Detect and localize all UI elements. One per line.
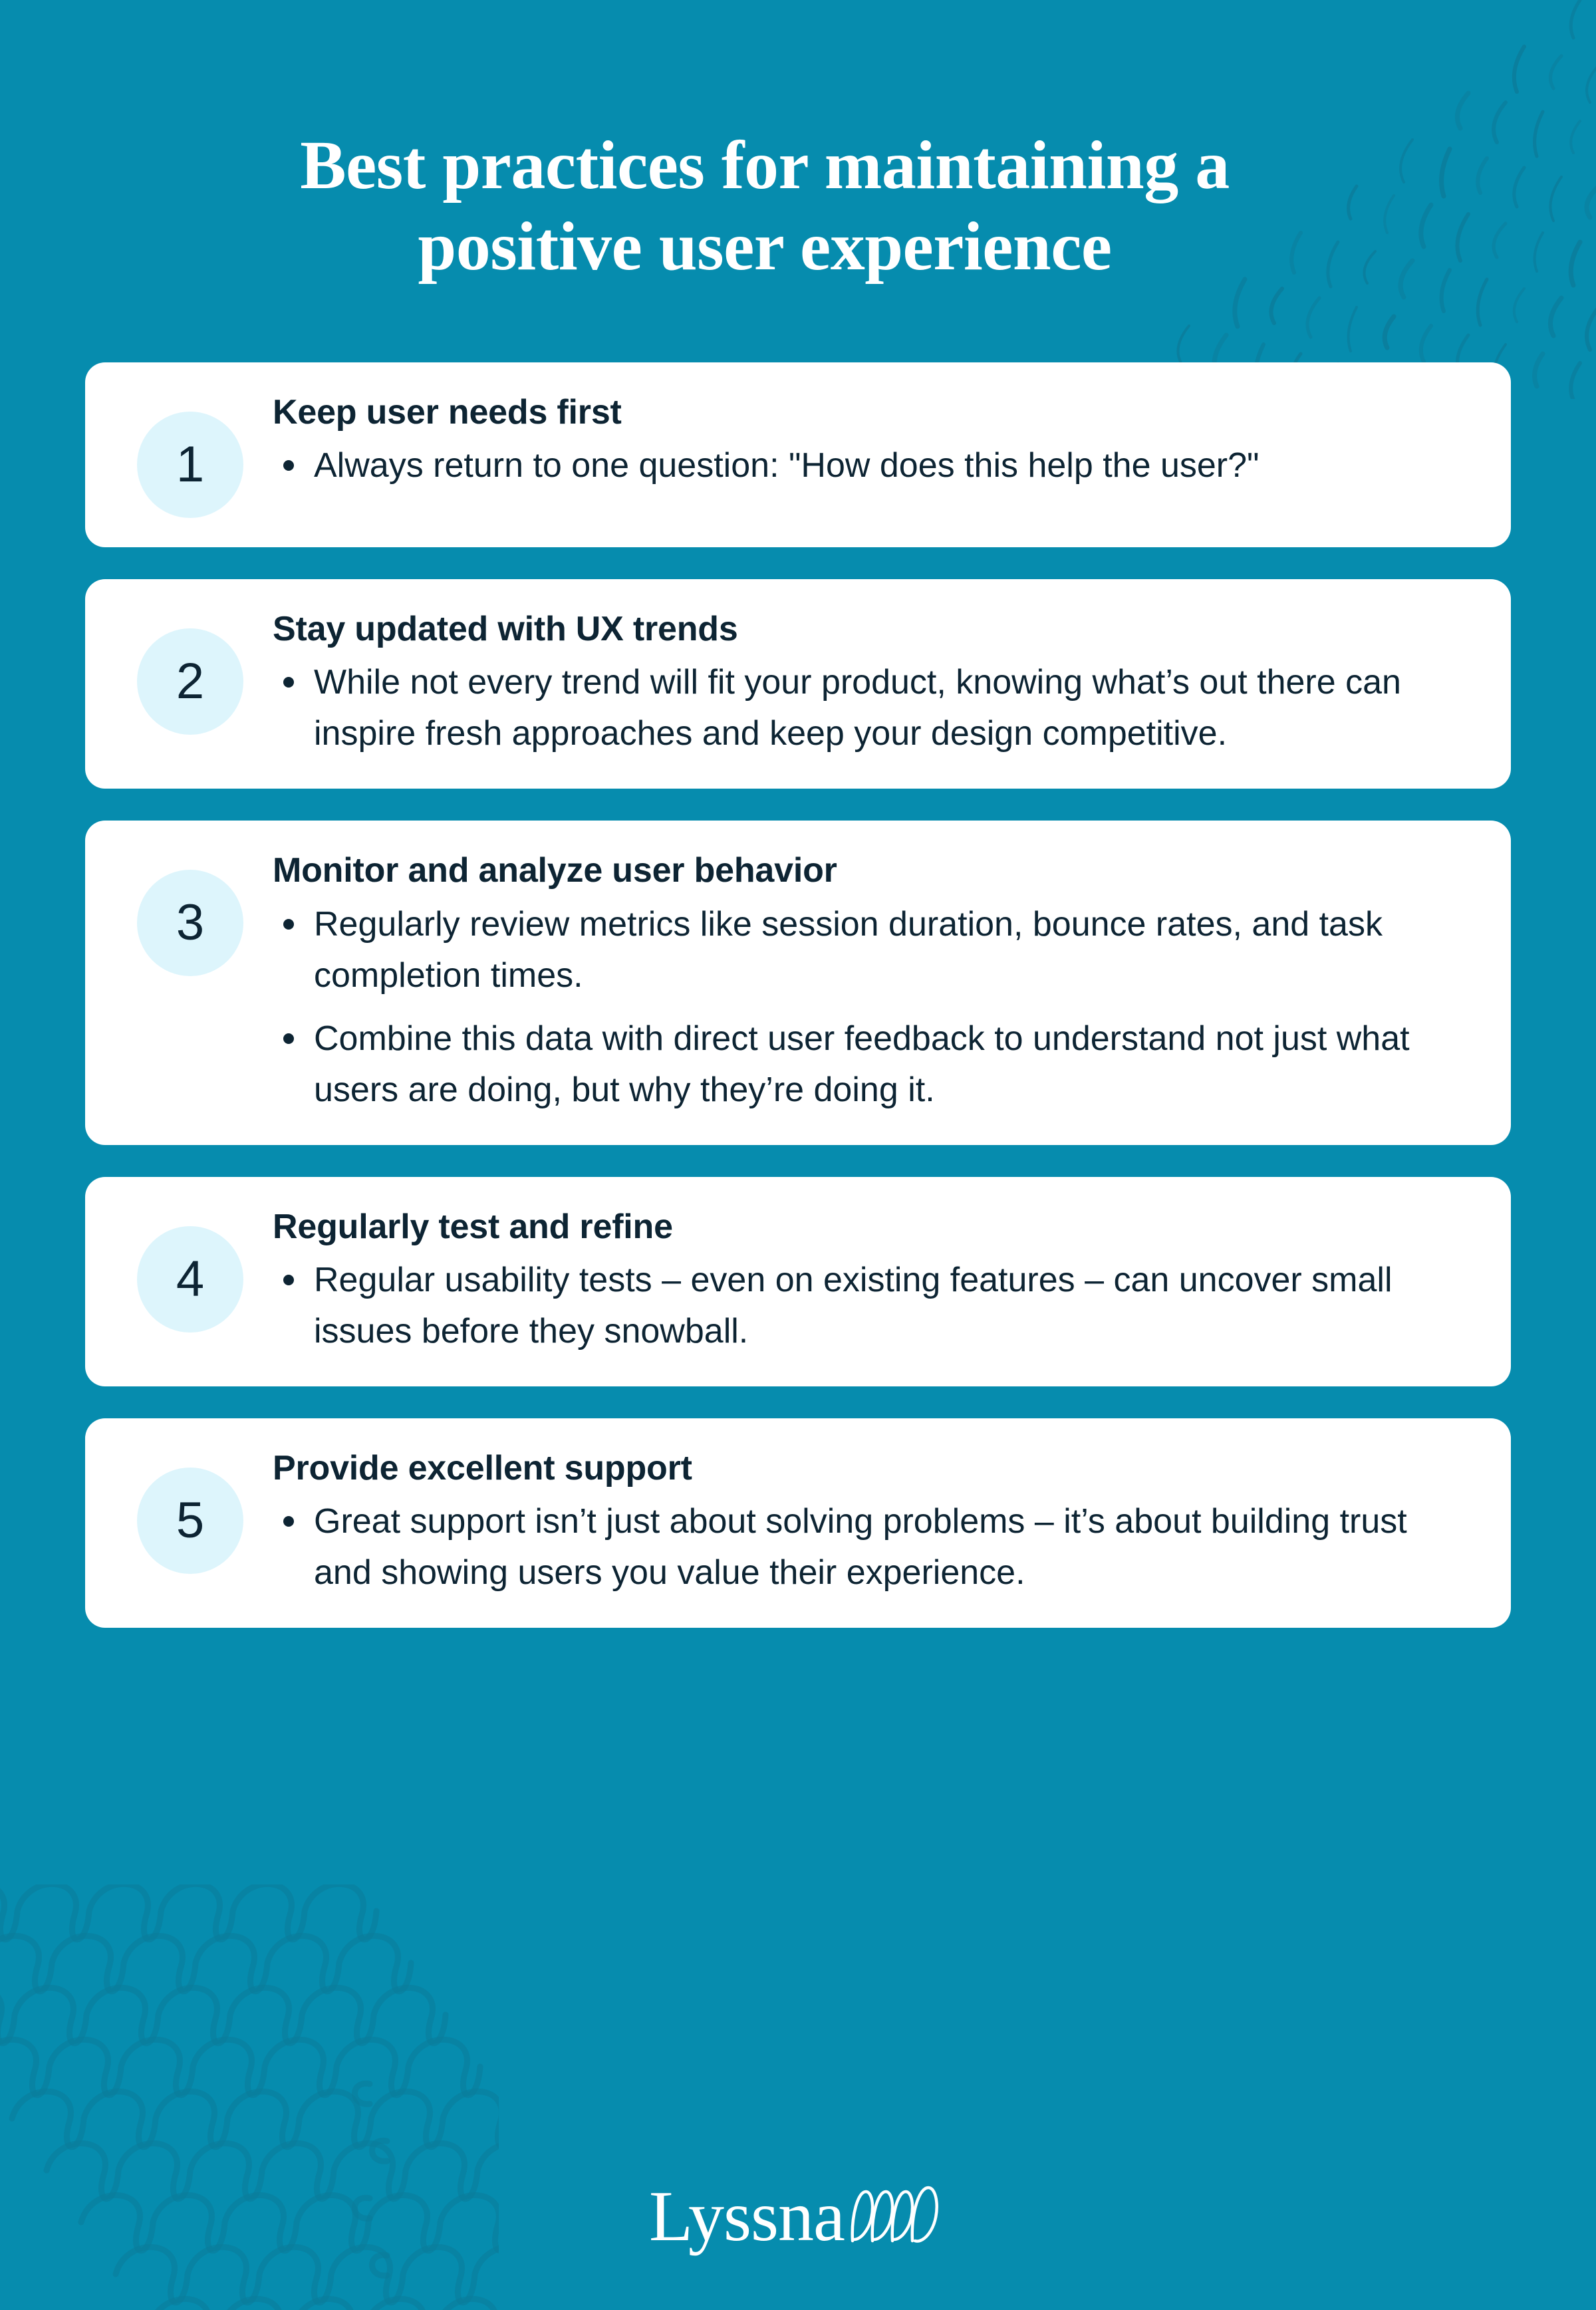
- card-number-badge-wrap: 2: [124, 608, 257, 735]
- card-bullet-list: Great support isn’t just about solving p…: [273, 1496, 1470, 1599]
- practice-card-list: 1Keep user needs firstAlways return to o…: [85, 362, 1511, 1660]
- card-number-badge-wrap: 3: [124, 850, 257, 976]
- card-number-badge: 4: [137, 1226, 243, 1333]
- card-title: Stay updated with UX trends: [273, 608, 1470, 650]
- card-number-badge: 5: [137, 1468, 243, 1574]
- card-body: Monitor and analyze user behaviorRegular…: [257, 850, 1474, 1115]
- card-bullet-list: While not every trend will fit your prod…: [273, 657, 1470, 759]
- card-body: Stay updated with UX trendsWhile not eve…: [257, 608, 1474, 759]
- infographic-poster: Best practices for maintaining a positiv…: [0, 0, 1596, 2310]
- card-bullet-item: Great support isn’t just about solving p…: [273, 1496, 1470, 1599]
- page-title-line-2: positive user experience: [219, 206, 1310, 288]
- card-title: Monitor and analyze user behavior: [273, 850, 1470, 892]
- page-title: Best practices for maintaining a positiv…: [0, 125, 1596, 288]
- card-bullet-item: While not every trend will fit your prod…: [273, 657, 1470, 759]
- card-number-badge: 1: [137, 412, 243, 518]
- card-number-badge: 2: [137, 628, 243, 735]
- loops-squiggle-icon: [847, 2182, 947, 2246]
- card-body: Provide excellent supportGreat support i…: [257, 1448, 1474, 1599]
- card-body: Keep user needs firstAlways return to on…: [257, 392, 1474, 491]
- card-bullet-item: Regularly review metrics like session du…: [273, 899, 1470, 1001]
- card-bullet-item: Combine this data with direct user feedb…: [273, 1013, 1470, 1116]
- card-bullet-item: Regular usability tests – even on existi…: [273, 1255, 1470, 1357]
- page-title-line-1: Best practices for maintaining a: [219, 125, 1310, 207]
- card-title: Keep user needs first: [273, 392, 1470, 434]
- card-number-badge-wrap: 1: [124, 392, 257, 518]
- card-body: Regularly test and refineRegular usabili…: [257, 1206, 1474, 1357]
- brand-wordmark: Lyssna: [649, 2181, 845, 2253]
- card-title: Provide excellent support: [273, 1448, 1470, 1489]
- practice-card: 2Stay updated with UX trendsWhile not ev…: [85, 579, 1511, 789]
- card-bullet-list: Always return to one question: "How does…: [273, 440, 1470, 491]
- card-number-badge: 3: [137, 870, 243, 976]
- practice-card: 5Provide excellent supportGreat support …: [85, 1418, 1511, 1628]
- card-title: Regularly test and refine: [273, 1206, 1470, 1248]
- card-bullet-list: Regularly review metrics like session du…: [273, 899, 1470, 1116]
- card-number-badge-wrap: 4: [124, 1206, 257, 1333]
- card-bullet-item: Always return to one question: "How does…: [273, 440, 1470, 491]
- brand-logo: Lyssna: [0, 2181, 1596, 2253]
- card-number-badge-wrap: 5: [124, 1448, 257, 1574]
- practice-card: 1Keep user needs firstAlways return to o…: [85, 362, 1511, 547]
- card-bullet-list: Regular usability tests – even on existi…: [273, 1255, 1470, 1357]
- practice-card: 4Regularly test and refineRegular usabil…: [85, 1177, 1511, 1386]
- practice-card: 3Monitor and analyze user behaviorRegula…: [85, 821, 1511, 1144]
